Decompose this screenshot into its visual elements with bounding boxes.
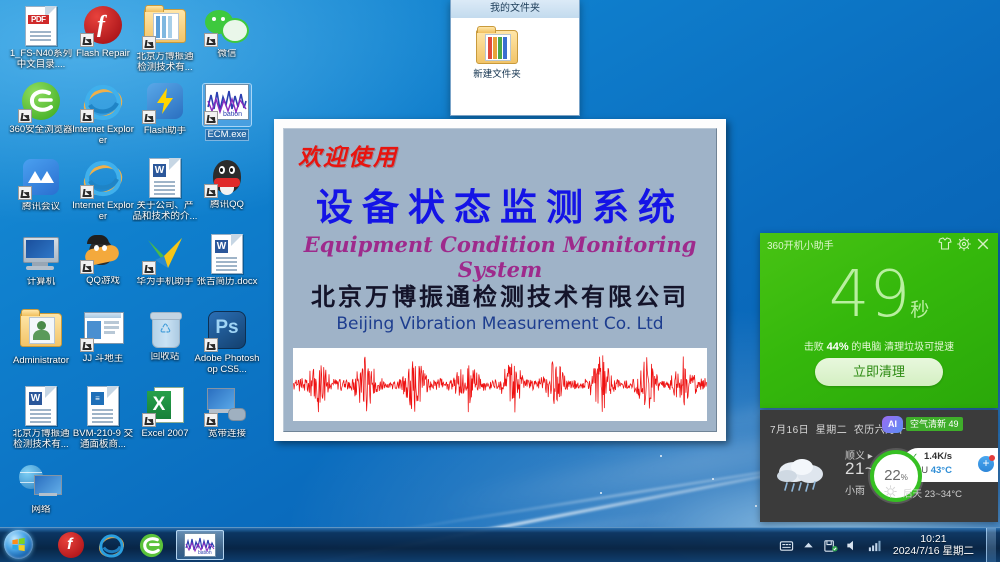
- computer-icon: [17, 234, 65, 276]
- bg-window-item-label: 新建文件夹: [465, 66, 529, 80]
- desktop-icon-label: QQ游戏: [70, 276, 136, 287]
- shortcut-arrow-icon: [142, 110, 156, 124]
- desktop-icon-network[interactable]: 网络: [8, 460, 74, 516]
- userfolder-icon: [17, 313, 65, 355]
- desktop-icon-qqgame[interactable]: QQ游戏: [70, 232, 136, 287]
- wallpaper-spark: [660, 455, 662, 457]
- browser360-icon: [17, 82, 65, 124]
- vibration-waveform: [293, 348, 707, 421]
- shirt-icon[interactable]: [937, 236, 953, 252]
- desktop-icon-label: 北京万博振通检测技术有...: [132, 52, 198, 73]
- ie-icon: [79, 158, 127, 200]
- shortcut-arrow-icon: [204, 111, 218, 125]
- taskbar-button-browser-360[interactable]: [132, 530, 170, 560]
- taskbar-button-flash-player[interactable]: f: [52, 530, 90, 560]
- ecm-waveform-icon: bation: [185, 534, 215, 556]
- desktop-icon-word-doc[interactable]: W张吉简历.docx: [194, 232, 260, 288]
- volume-icon[interactable]: [845, 538, 860, 553]
- word-doc-icon: W: [17, 386, 65, 428]
- word-doc-icon: W: [141, 158, 189, 200]
- shortcut-arrow-icon: [80, 109, 94, 123]
- desktop-icon-label: 微信: [194, 49, 260, 60]
- removable-media-icon[interactable]: [823, 538, 838, 553]
- desktop-icon-excel[interactable]: XExcel 2007: [132, 384, 198, 440]
- folder-color: [503, 37, 507, 59]
- ie-icon: [79, 82, 127, 124]
- desktop-icon-label: 计算机: [8, 277, 74, 288]
- desktop-icon-huawei[interactable]: 华为手机助手: [132, 232, 198, 288]
- shortcut-arrow-icon: [80, 185, 94, 199]
- weather-forecast: 后天 23~34°C: [903, 486, 962, 500]
- shortcut-arrow-icon: [80, 33, 94, 47]
- excel-icon: X: [141, 386, 189, 428]
- rain-cloud-icon: [772, 454, 834, 496]
- windows-logo-icon: [11, 537, 26, 552]
- air-quality-badge: 空气清新 49: [906, 417, 963, 431]
- bg-window-body: 新建文件夹: [451, 18, 579, 115]
- network-icon[interactable]: [867, 538, 882, 553]
- desktop-icon-word-doc[interactable]: W北京万博振通检测技术有...: [8, 384, 74, 450]
- flash-icon: f: [79, 6, 127, 48]
- desktop-icon-label: ECM.exe: [206, 130, 247, 141]
- desktop-icon-label: 关于公司、产品和技术的介...: [132, 201, 198, 222]
- gear-icon[interactable]: [956, 236, 972, 252]
- desktop-icon-jj[interactable]: JJ 斗地主: [70, 308, 136, 365]
- network-speed: 1.4K/s: [924, 451, 952, 462]
- show-hidden-icons-icon[interactable]: [801, 538, 816, 553]
- splash-company-en: Beijing Vibration Measurement Co. Ltd: [284, 314, 716, 334]
- shortcut-arrow-icon: [204, 184, 218, 198]
- desktop-icon-broadband[interactable]: 宽带连接: [194, 384, 260, 440]
- background-explorer-window[interactable]: 我的文件夹 新建文件夹: [450, 0, 580, 116]
- desktop-icon-label: Excel 2007: [132, 429, 198, 440]
- splash-panel: 欢迎使用 设备状态监测系统 Equipment Condition Monito…: [283, 128, 717, 432]
- desktop-icon-label: Internet Explorer: [70, 201, 136, 222]
- desktop-icon-label: 360安全浏览器: [8, 125, 74, 136]
- ie-icon: [98, 532, 125, 559]
- shortcut-arrow-icon: [204, 338, 218, 352]
- pdf-doc-icon: PDF: [17, 6, 65, 48]
- huawei-icon: [141, 234, 189, 276]
- splash-title-en: Equipment Condition Monitoring System: [284, 232, 716, 282]
- jj-icon: [79, 311, 127, 353]
- wallpaper-spark: [755, 505, 757, 507]
- clock-date: 2024/7/16 星期二: [893, 545, 974, 557]
- desktop-icon-label: 宽带连接: [194, 429, 260, 440]
- recycle-icon: ♺: [141, 309, 189, 351]
- taskbar-clock[interactable]: 10:21 2024/7/16 星期二: [893, 533, 974, 557]
- desktop-icon-recycle[interactable]: ♺回收站: [132, 308, 198, 363]
- widget-360-boot-assistant[interactable]: 360开机小助手 49秒 击败 44% 的电脑 清理垃圾可提速 立即清理: [760, 233, 998, 408]
- network-icon: [17, 462, 65, 504]
- folder-color: [498, 37, 502, 59]
- folder-color: [488, 37, 492, 59]
- qq-icon: [203, 157, 251, 199]
- desktop-icon-label: Flash助手: [132, 126, 198, 137]
- sun-icon: [884, 485, 897, 498]
- show-desktop-button[interactable]: [986, 528, 996, 562]
- wallpaper-spark: [600, 492, 602, 494]
- browser-360-icon: [138, 532, 165, 559]
- weather-widget[interactable]: 7月16日 星期二 农历六月十一 AI 空气清新 49 顺义 ▸ 21~31 小…: [760, 410, 998, 522]
- splash-window[interactable]: 欢迎使用 设备状态监测系统 Equipment Condition Monito…: [274, 119, 726, 441]
- word-doc-icon: W: [203, 234, 251, 276]
- desktop-icon-computer[interactable]: 计算机: [8, 232, 74, 288]
- folder-page: [485, 34, 511, 61]
- photoshop-icon: Ps: [203, 311, 251, 353]
- clock-time: 10:21: [893, 533, 974, 545]
- desktop-icon-label: BVM-210-9 交通面板商...: [70, 429, 136, 450]
- wechat-icon: [203, 6, 251, 48]
- shortcut-arrow-icon: [18, 186, 32, 200]
- start-button[interactable]: [4, 530, 33, 559]
- taskbar-button-internet-explorer[interactable]: [92, 530, 130, 560]
- desktop-icon-label: JJ 斗地主: [70, 354, 136, 365]
- desktop-icon-photoshop[interactable]: PsAdobe Photoshop CS5...: [194, 308, 260, 375]
- splash-title-cn: 设备状态监测系统: [284, 177, 716, 231]
- folder-icon: [476, 30, 518, 64]
- meeting-icon: [17, 159, 65, 201]
- system-tray: 10:21 2024/7/16 星期二: [779, 528, 996, 562]
- folder-color: [493, 37, 497, 59]
- svg-text:bation: bation: [198, 550, 212, 556]
- desktop-icon-label: Adobe Photoshop CS5...: [194, 354, 260, 375]
- desktop-icon-userfolder[interactable]: Administrator: [8, 308, 74, 367]
- desktop-icon-ie[interactable]: Internet Explorer: [70, 156, 136, 222]
- ecm-icon: bation: [203, 84, 251, 126]
- folder-icon: [141, 9, 189, 51]
- widget-360-titlebar: 360开机小助手: [760, 233, 998, 255]
- desktop-icon-label: Administrator: [8, 356, 74, 367]
- taskbar-button-ecm-app[interactable]: bation: [176, 530, 224, 560]
- desktop-icon-flash[interactable]: fFlash Repair: [70, 4, 136, 60]
- shortcut-arrow-icon: [142, 261, 156, 275]
- broadband-icon: [203, 386, 251, 428]
- input-method-icon[interactable]: [779, 538, 794, 553]
- desktop-icon-folder[interactable]: 北京万博振通检测技术有...: [132, 4, 198, 73]
- desktop-icon-label: 1_FS-N40系列中文目录....: [8, 49, 74, 70]
- desktop-icon-label: 张吉简历.docx: [194, 277, 260, 288]
- wallpaper-spark: [712, 478, 714, 480]
- bg-window-title: 我的文件夹: [451, 0, 579, 18]
- desktop-icon-ie[interactable]: Internet Explorer: [70, 80, 136, 146]
- desktop-icon-label: 腾讯会议: [8, 202, 74, 213]
- desktop-icon-label: 华为手机助手: [132, 277, 198, 288]
- shortcut-arrow-icon: [80, 260, 94, 274]
- shortcut-arrow-icon: [142, 413, 156, 427]
- shortcut-arrow-icon: [18, 109, 32, 123]
- desktop-icon-label: Flash Repair: [70, 49, 136, 60]
- doc-icon: ≡: [79, 386, 127, 428]
- flashhelper-icon: [141, 83, 189, 125]
- bg-window-item[interactable]: 新建文件夹: [465, 28, 529, 80]
- splash-company-cn: 北京万博振通检测技术有限公司: [284, 277, 716, 312]
- clean-now-button[interactable]: 立即清理: [815, 358, 943, 386]
- desktop-icon-ecm[interactable]: bationECM.exe: [194, 80, 260, 145]
- desktop-icon-label: 腾讯QQ: [194, 200, 260, 211]
- desktop-icon-doc[interactable]: ≡BVM-210-9 交通面板商...: [70, 384, 136, 450]
- welcome-text: 欢迎使用: [298, 138, 398, 172]
- shortcut-arrow-icon: [80, 338, 94, 352]
- desktop-icon-wechat[interactable]: 微信: [194, 4, 260, 60]
- add-icon[interactable]: +: [978, 456, 994, 472]
- desktop-icon-label: 网络: [8, 505, 74, 516]
- desktop-icon-browser360[interactable]: 360安全浏览器: [8, 80, 74, 136]
- desktop-screen: 我的文件夹 新建文件夹 PDF1_FS-N40系列中文目录....fFlash …: [0, 0, 1000, 562]
- waveform-svg: [293, 348, 707, 421]
- svg-text:bation: bation: [223, 111, 242, 118]
- boot-subtitle: 击败 44% 的电脑 清理垃圾可提速: [760, 338, 998, 353]
- close-icon[interactable]: [975, 236, 991, 252]
- desktop-icon-word-doc[interactable]: W关于公司、产品和技术的介...: [132, 156, 198, 222]
- desktop-icon-label: 回收站: [132, 352, 198, 363]
- shortcut-arrow-icon: [142, 36, 156, 50]
- desktop-icon-meeting[interactable]: 腾讯会议: [8, 156, 74, 213]
- shortcut-arrow-icon: [204, 33, 218, 47]
- weather-condition: 小雨: [845, 482, 865, 497]
- taskbar: f: [0, 527, 1000, 562]
- ai-badge[interactable]: AI: [882, 416, 903, 433]
- desktop-icon-pdf-doc[interactable]: PDF1_FS-N40系列中文目录....: [8, 4, 74, 70]
- widget-360-title: 360开机小助手: [767, 237, 934, 252]
- boot-time-value: 49秒: [760, 263, 998, 342]
- shortcut-arrow-icon: [204, 413, 218, 427]
- desktop-icon-flashhelper[interactable]: Flash助手: [132, 80, 198, 137]
- desktop-icon-label: Internet Explorer: [70, 125, 136, 146]
- desktop-icon-qq[interactable]: 腾讯QQ: [194, 156, 260, 211]
- desktop-icon-label: 北京万博振通检测技术有...: [8, 429, 74, 450]
- qqgame-icon: [79, 233, 127, 275]
